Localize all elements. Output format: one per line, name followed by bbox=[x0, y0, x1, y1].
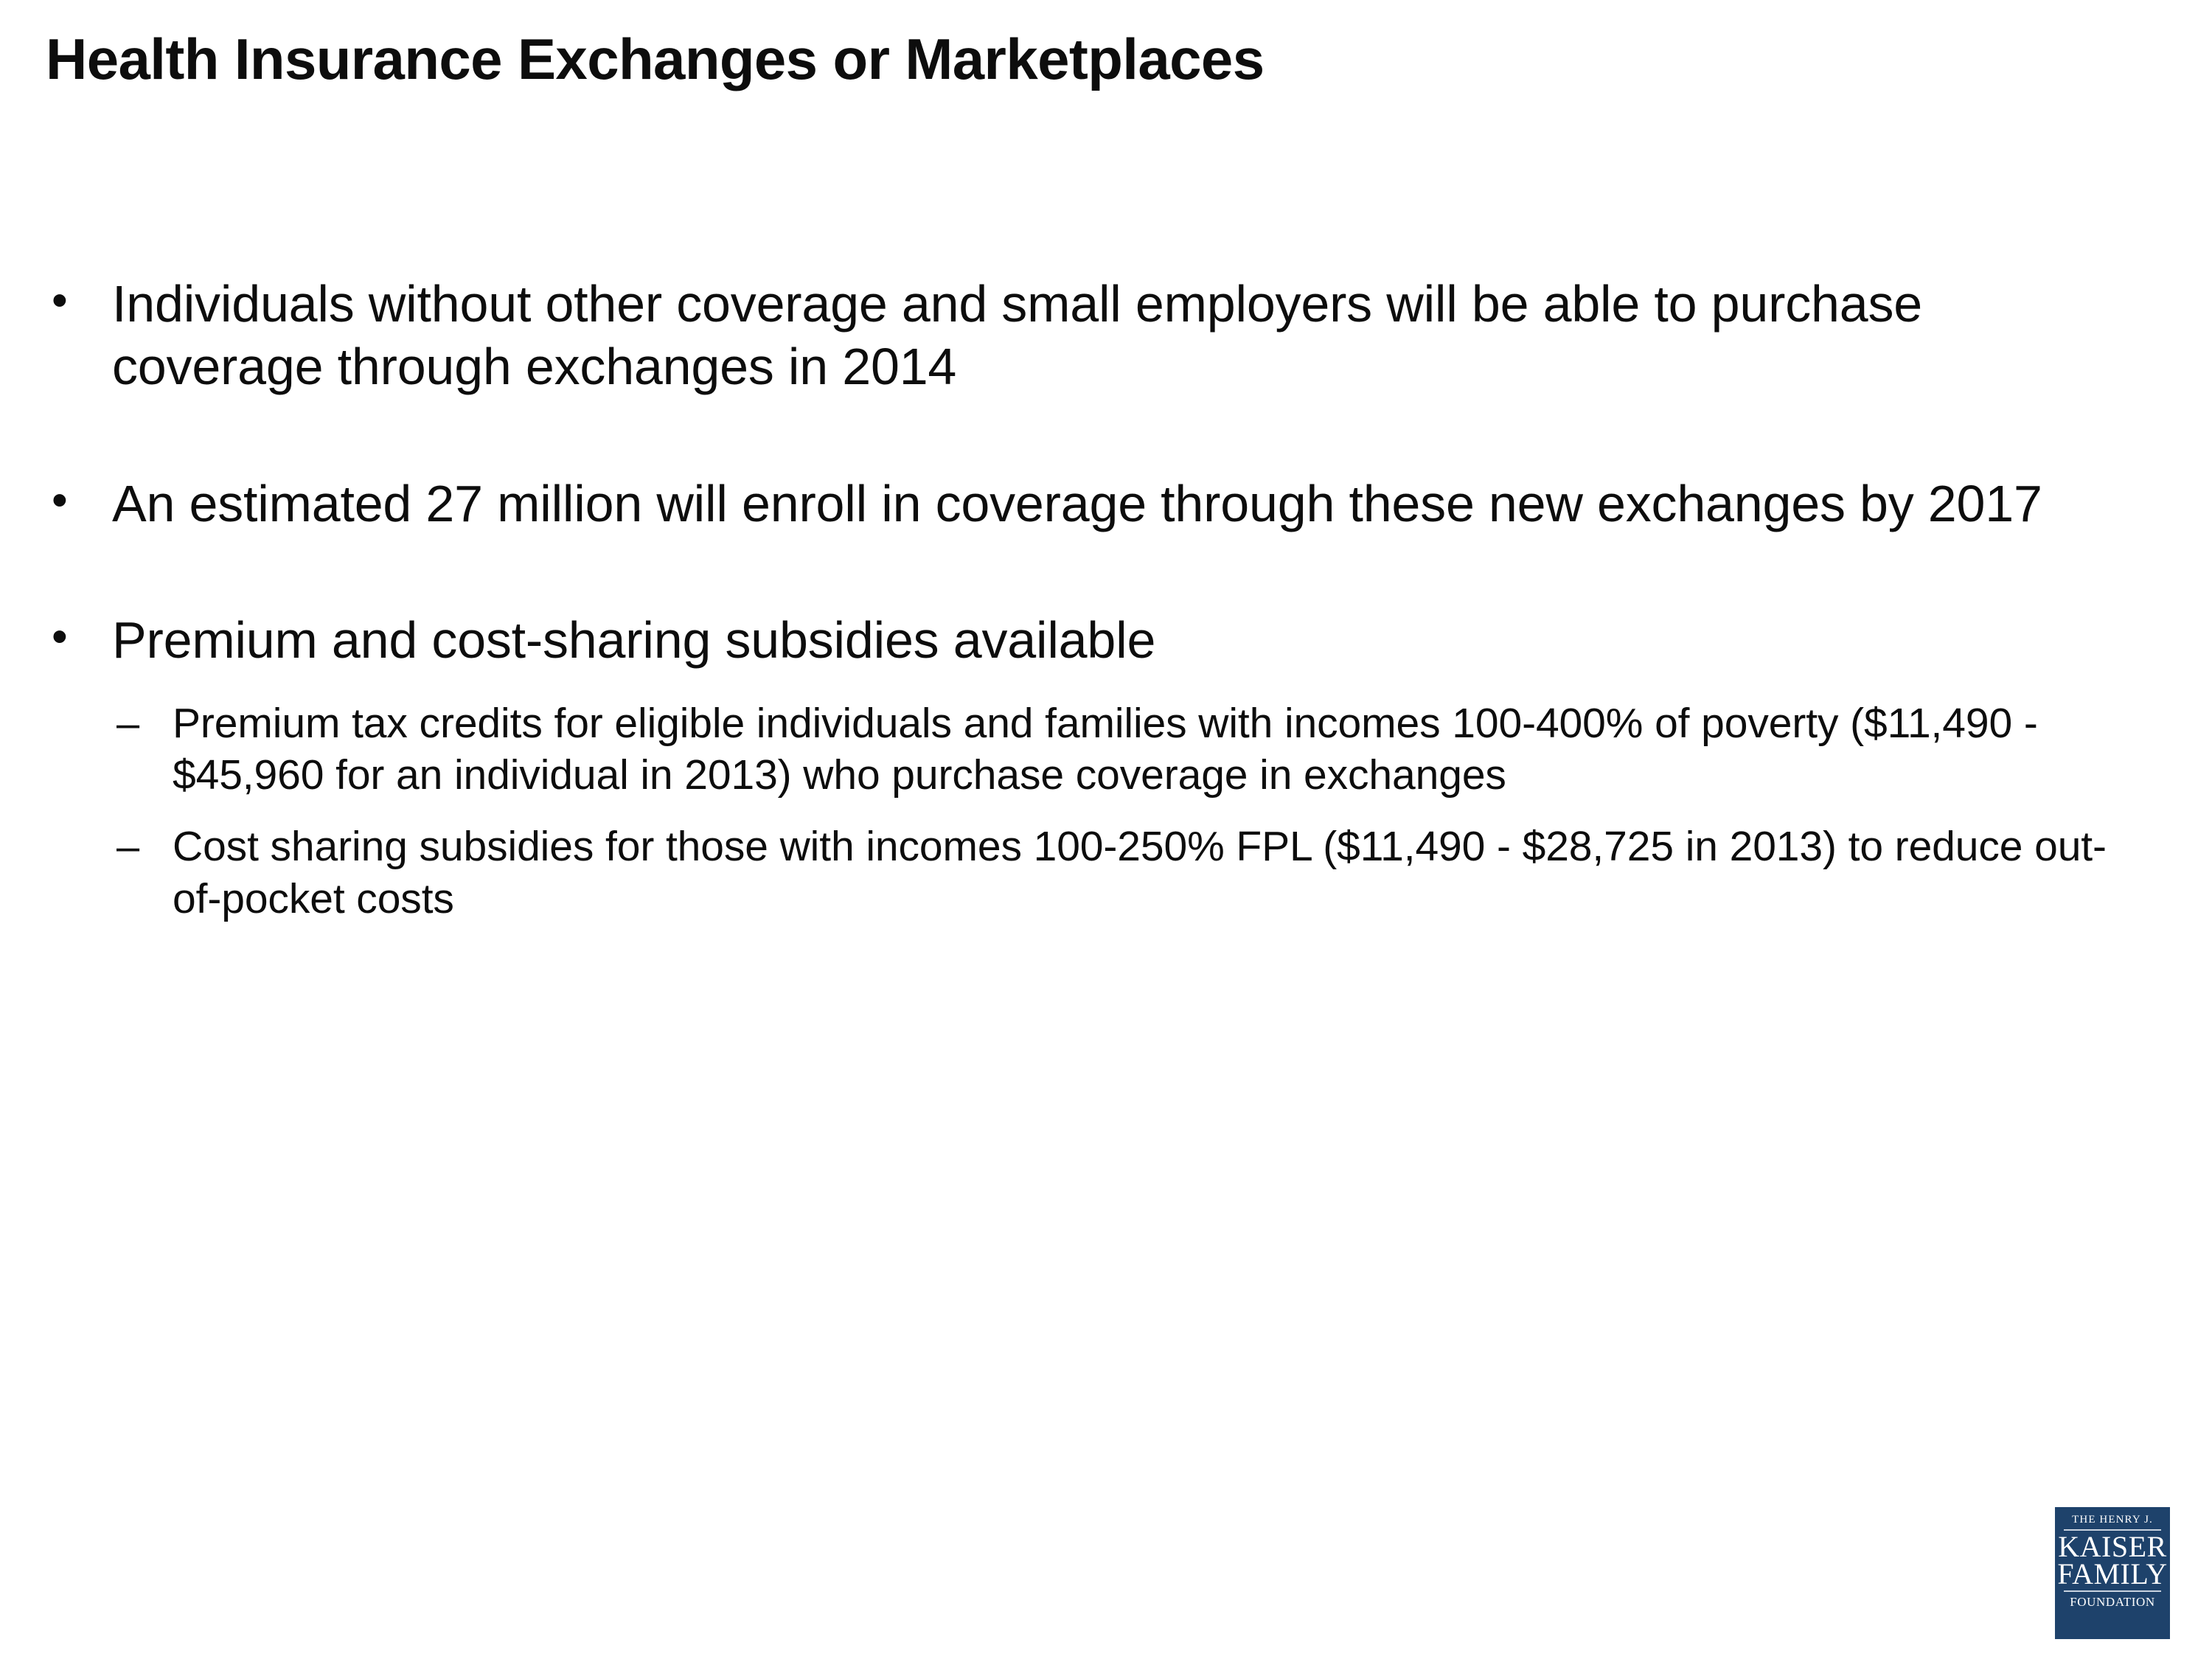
bullet-marker-icon: • bbox=[46, 473, 112, 529]
sub-bullet-text-1: Premium tax credits for eligible individ… bbox=[173, 698, 2112, 801]
bullet-item-3: • Premium and cost-sharing subsidies ava… bbox=[46, 609, 2169, 925]
kaiser-family-foundation-logo: THE HENRY J. KAISER FAMILY FOUNDATION bbox=[2055, 1507, 2170, 1639]
sub-bullet-item-1: – Premium tax credits for eligible indiv… bbox=[112, 698, 2169, 801]
logo-line-family: FAMILY bbox=[2057, 1559, 2167, 1588]
bullet-text-3: Premium and cost-sharing subsidies avail… bbox=[112, 609, 2099, 672]
sub-bullet-list: – Premium tax credits for eligible indiv… bbox=[112, 698, 2169, 925]
dash-marker-icon: – bbox=[112, 821, 173, 872]
sub-bullet-item-2: – Cost sharing subsidies for those with … bbox=[112, 821, 2169, 925]
slide-body: • Individuals without other coverage and… bbox=[46, 273, 2169, 925]
bullet-item-2: • An estimated 27 million will enroll in… bbox=[46, 473, 2169, 535]
logo-line-the-henry-j: THE HENRY J. bbox=[2072, 1514, 2153, 1526]
slide-title: Health Insurance Exchanges or Marketplac… bbox=[46, 28, 2037, 90]
bullet-marker-icon: • bbox=[46, 609, 112, 665]
bullet-item-1: • Individuals without other coverage and… bbox=[46, 273, 2169, 399]
bullet-text-1: Individuals without other coverage and s… bbox=[112, 273, 2099, 399]
dash-marker-icon: – bbox=[112, 698, 173, 748]
logo-line-foundation: FOUNDATION bbox=[2070, 1596, 2155, 1608]
sub-bullet-text-2: Cost sharing subsidies for those with in… bbox=[173, 821, 2112, 925]
bullet-marker-icon: • bbox=[46, 273, 112, 329]
logo-divider-lower bbox=[2064, 1590, 2161, 1592]
bullet-text-2: An estimated 27 million will enroll in c… bbox=[112, 473, 2099, 535]
presentation-slide: Health Insurance Exchanges or Marketplac… bbox=[0, 0, 2212, 1659]
